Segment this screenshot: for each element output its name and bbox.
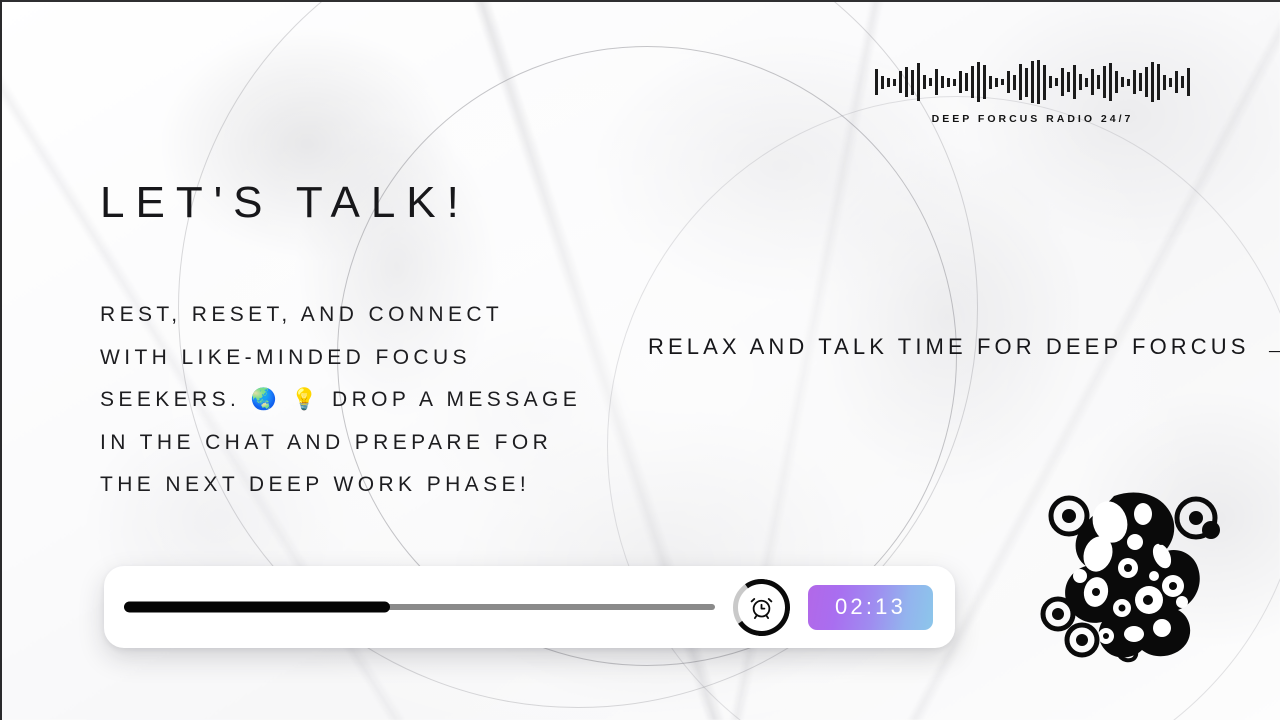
waveform-bar (923, 75, 926, 89)
waveform-bar (1097, 75, 1100, 89)
hero-body-line: IN THE CHAT AND PREPARE FOR (100, 422, 620, 465)
tagline: RELAX AND TALK TIME FOR DEEP FORCUS → (648, 334, 1280, 360)
waveform-bar (989, 76, 992, 89)
audio-waveform-icon (875, 60, 1190, 104)
waveform-bar (995, 78, 998, 87)
slide-canvas: DEEP FORCUS RADIO 24/7 LET'S TALK! REST,… (0, 0, 1280, 720)
waveform-bar (935, 69, 938, 95)
page-title: LET'S TALK! (100, 178, 470, 228)
waveform-bar (1091, 69, 1094, 95)
hero-body-text: REST, RESET, AND CONNECTWITH LIKE-MINDED… (100, 294, 620, 507)
waveform-bar (1073, 65, 1076, 99)
waveform-bar (917, 63, 920, 101)
waveform-bar (875, 69, 878, 95)
waveform-bar (1169, 78, 1172, 87)
waveform-bar (905, 67, 908, 97)
progress-slider[interactable] (124, 601, 715, 613)
waveform-bar (1079, 74, 1082, 90)
waveform-bar (1115, 71, 1118, 93)
timer-badge[interactable]: 02:13 (808, 585, 933, 630)
waveform-bar (899, 71, 902, 93)
frame-top-edge (0, 0, 1280, 2)
tagline-text: RELAX AND TALK TIME FOR DEEP FORCUS (648, 334, 1250, 360)
waveform-bar (1133, 70, 1136, 94)
waveform-bar (1013, 75, 1016, 90)
hero-body-line: REST, RESET, AND CONNECT (100, 294, 620, 337)
waveform-bar (1175, 71, 1178, 93)
brand-caption: DEEP FORCUS RADIO 24/7 (932, 113, 1134, 125)
waveform-bar (983, 65, 986, 99)
waveform-bar (1127, 79, 1130, 86)
waveform-bar (1151, 62, 1154, 102)
waveform-bar (887, 78, 890, 87)
waveform-bar (881, 76, 884, 89)
waveform-bar (941, 76, 944, 88)
hero-body-line: WITH LIKE-MINDED FOCUS (100, 337, 620, 380)
waveform-bar (1043, 65, 1046, 100)
waveform-bar (1181, 76, 1184, 88)
alarm-clock-icon (733, 579, 790, 636)
waveform-bar (1121, 77, 1124, 87)
waveform-bar (1085, 78, 1088, 87)
hero-body-line: THE NEXT DEEP WORK PHASE! (100, 464, 620, 507)
waveform-bar (1025, 68, 1028, 97)
waveform-bar (977, 62, 980, 102)
brand-logo: DEEP FORCUS RADIO 24/7 (875, 60, 1190, 125)
audio-player-bar[interactable]: 02:13 (104, 566, 955, 648)
waveform-bar (1037, 60, 1040, 104)
waveform-bar (911, 70, 914, 95)
waveform-bar (965, 73, 968, 91)
waveform-bar (1163, 75, 1166, 90)
waveform-bar (929, 78, 932, 86)
waveform-bar (1055, 78, 1058, 86)
hero-body-line: SEEKERS. 🌏 💡 DROP A MESSAGE (100, 379, 620, 422)
waveform-bar (1145, 67, 1148, 97)
waveform-bar (947, 78, 950, 87)
waveform-bar (1109, 63, 1112, 101)
abstract-bubble-blob-art (1036, 482, 1236, 664)
waveform-bar (1049, 76, 1052, 88)
waveform-bar (971, 66, 974, 98)
timer-ring[interactable] (733, 579, 790, 636)
waveform-bar (1139, 73, 1142, 91)
arrow-right-icon: → (1264, 334, 1280, 360)
waveform-bar (893, 79, 896, 86)
waveform-bar (1007, 71, 1010, 93)
progress-fill (124, 602, 390, 613)
waveform-bar (1187, 68, 1190, 96)
waveform-bar (959, 71, 962, 93)
frame-left-edge (0, 0, 2, 720)
waveform-bar (1067, 72, 1070, 92)
waveform-bar (1103, 66, 1106, 98)
waveform-bar (1031, 61, 1034, 103)
waveform-bar (1019, 64, 1022, 100)
waveform-bar (1061, 68, 1064, 96)
waveform-bar (953, 79, 956, 86)
waveform-bar (1001, 79, 1004, 85)
timer-value: 02:13 (835, 594, 906, 620)
waveform-bar (1157, 64, 1160, 100)
